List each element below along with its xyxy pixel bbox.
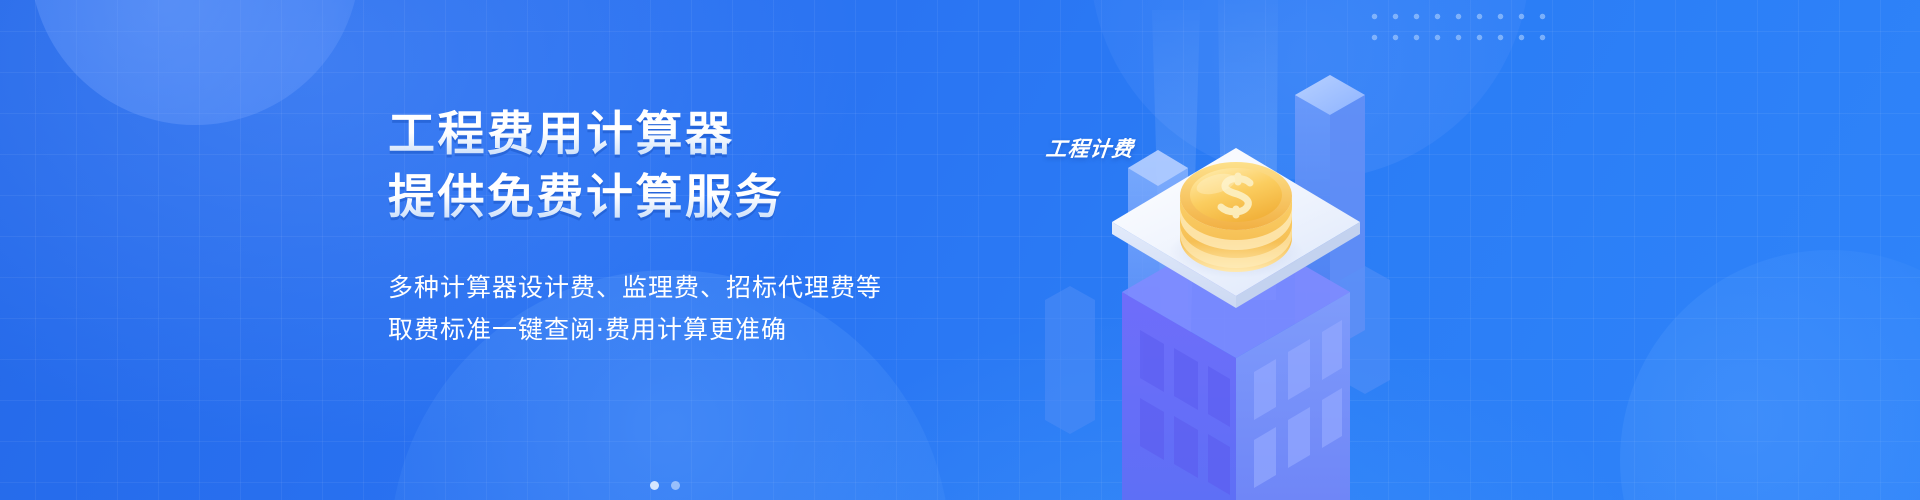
headline-line-1: 工程费用计算器 — [388, 104, 948, 166]
subtitle-line-1: 多种计算器设计费、监理费、招标代理费等 — [388, 267, 948, 309]
pagination-dot-2[interactable] — [671, 481, 680, 490]
hero-banner: 工程费用计算器 提供免费计算服务 多种计算器设计费、监理费、招标代理费等 取费标… — [0, 0, 1920, 500]
banner-copy: 工程费用计算器 提供免费计算服务 多种计算器设计费、监理费、招标代理费等 取费标… — [388, 104, 948, 351]
illustration-label: 工程计费 — [1044, 133, 1135, 163]
coin-stack — [1180, 162, 1292, 272]
headline-line-2: 提供免费计算服务 — [388, 167, 948, 229]
banner-illustration — [1040, 0, 1480, 500]
blueprint-grid-pattern — [0, 0, 1920, 500]
background-block-small — [1045, 286, 1095, 434]
pagination-dot-1[interactable] — [650, 481, 659, 490]
subtitle-line-2: 取费标准一键查阅·费用计算更准确 — [388, 309, 948, 351]
banner-subtitle: 多种计算器设计费、监理费、招标代理费等 取费标准一键查阅·费用计算更准确 — [388, 267, 948, 351]
decorative-circle-right — [1620, 250, 1920, 500]
decorative-circle-top-left — [30, 0, 360, 125]
carousel-pagination[interactable] — [0, 481, 1920, 490]
